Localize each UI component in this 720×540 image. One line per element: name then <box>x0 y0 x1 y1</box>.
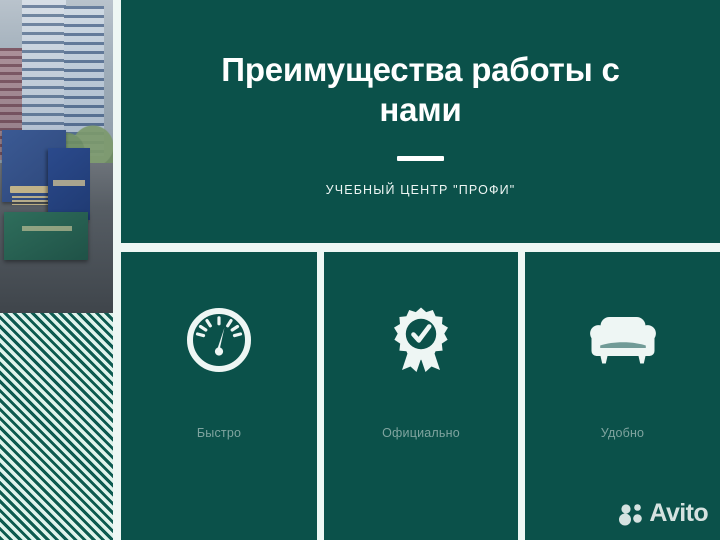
hero-panel: Преимущества работы с нами УЧЕБНЫЙ ЦЕНТР… <box>121 0 720 243</box>
avito-watermark: Avito <box>618 501 708 526</box>
title-divider <box>397 156 444 161</box>
award-badge-icon <box>385 304 457 376</box>
diploma-photo <box>0 0 113 313</box>
photo-green-folder-title <box>22 226 72 231</box>
armchair-icon <box>587 304 659 376</box>
photo-green-folder <box>4 212 88 260</box>
benefit-card-official[interactable]: Официально <box>324 252 518 540</box>
page-title: Преимущества работы с нами <box>206 46 636 131</box>
benefit-card-fast[interactable]: Быстро <box>121 252 317 540</box>
benefit-card-label: Удобно <box>601 426 644 440</box>
speedometer-icon <box>183 304 255 376</box>
benefit-card-label: Официально <box>382 426 460 440</box>
left-column <box>0 0 113 540</box>
benefit-card-comfortable[interactable]: Удобно <box>525 252 720 540</box>
avito-wordmark: Avito <box>649 501 708 526</box>
photo-certificate-folder <box>48 148 90 220</box>
hero-subtitle: УЧЕБНЫЙ ЦЕНТР "ПРОФИ" <box>326 183 516 197</box>
diagonal-stripes-pattern <box>0 313 113 540</box>
slide-canvas: Преимущества работы с нами УЧЕБНЫЙ ЦЕНТР… <box>0 0 720 540</box>
benefit-card-label: Быстро <box>197 426 241 440</box>
avito-dots-logo <box>618 502 644 526</box>
photo-certificate-title <box>53 180 85 186</box>
